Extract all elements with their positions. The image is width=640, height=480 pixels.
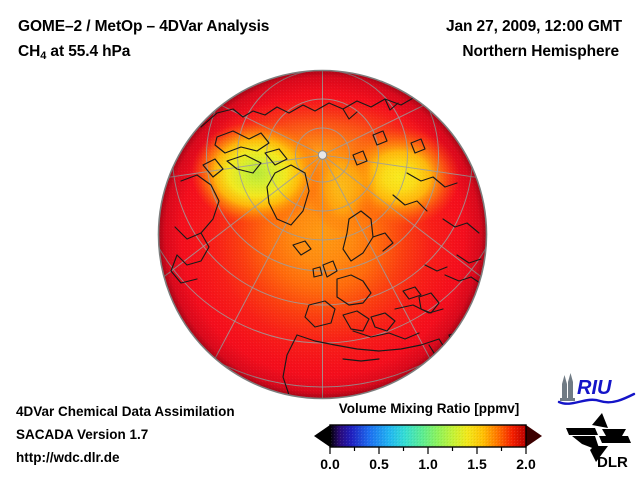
cathedral-towers-icon xyxy=(560,373,575,401)
header-left: GOME–2 / MetOp – 4DVar Analysis CH4 at 5… xyxy=(18,14,388,66)
limb-shading xyxy=(159,71,487,399)
globe-svg xyxy=(157,69,488,400)
region-label: Northern Hemisphere xyxy=(342,39,622,64)
north-pole-dot xyxy=(318,151,326,159)
species-level-label: CH4 at 55.4 hPa xyxy=(18,39,388,66)
header-right: Jan 27, 2009, 12:00 GMT Northern Hemisph… xyxy=(342,14,622,64)
footer-line-version: SACADA Version 1.7 xyxy=(16,423,316,446)
colorbar-tick-label: 2.0 xyxy=(516,456,536,472)
globe-map xyxy=(157,69,488,400)
pressure-level: at 55.4 hPa xyxy=(46,43,130,60)
visualization-page: GOME–2 / MetOp – 4DVar Analysis CH4 at 5… xyxy=(0,0,640,480)
footer-line-url[interactable]: http://wdc.dlr.de xyxy=(16,446,316,469)
colorbar-over-cap xyxy=(526,425,542,447)
colorbar-tick-label: 0.0 xyxy=(320,456,340,472)
riu-wordmark: RIU xyxy=(577,377,612,399)
dlr-logo-svg: DLR xyxy=(562,412,636,472)
riu-logo[interactable]: RIU xyxy=(556,372,636,408)
colorbar-tick-label: 1.5 xyxy=(467,456,487,472)
colorbar: Volume Mixing Ratio [ppmv] xyxy=(312,400,544,474)
dlr-logo[interactable]: DLR xyxy=(562,412,636,472)
colorbar-tick-label: 1.0 xyxy=(418,456,438,472)
page-title: GOME–2 / MetOp – 4DVar Analysis xyxy=(18,14,388,39)
colorbar-tick-label: 0.5 xyxy=(369,456,389,472)
footer-line-method: 4DVar Chemical Data Assimilation xyxy=(16,400,316,423)
colorbar-svg: 0.0 0.5 1.0 1.5 2.0 xyxy=(312,422,544,474)
species-subscript: 4 xyxy=(40,50,46,62)
colorbar-under-cap xyxy=(314,425,330,447)
colorbar-ticks xyxy=(330,447,526,454)
colorbar-title: Volume Mixing Ratio [ppmv] xyxy=(314,400,544,418)
colorbar-texture xyxy=(330,425,526,447)
colorbar-tick-labels: 0.0 0.5 1.0 1.5 2.0 xyxy=(320,456,536,472)
riu-logo-svg: RIU xyxy=(556,372,636,408)
footer-credits: 4DVar Chemical Data Assimilation SACADA … xyxy=(16,400,316,469)
species-prefix: CH xyxy=(18,43,40,60)
datetime-label: Jan 27, 2009, 12:00 GMT xyxy=(342,14,622,39)
dlr-wordmark: DLR xyxy=(597,454,628,471)
